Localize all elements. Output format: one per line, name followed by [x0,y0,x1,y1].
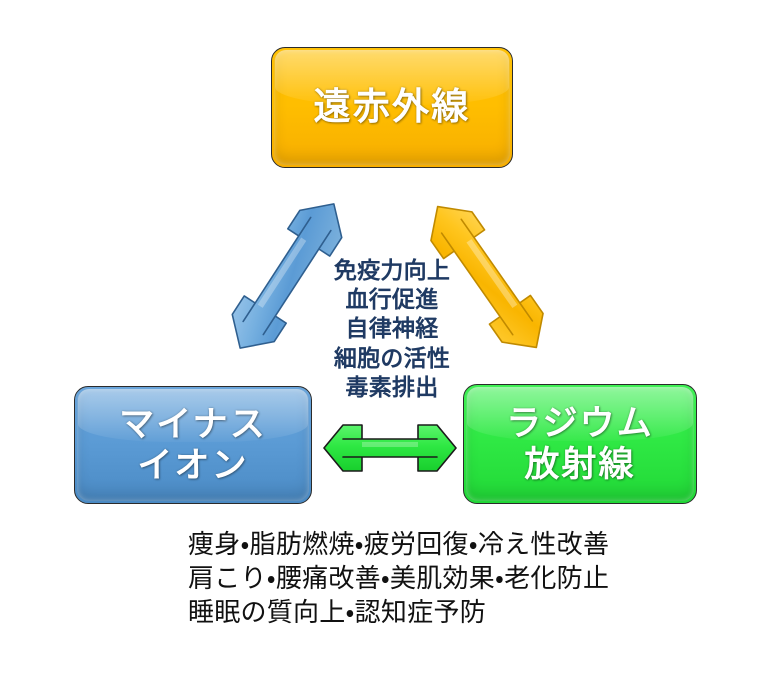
node-minus-ion[interactable]: マイナス イオン [74,386,312,504]
center-benefit-line: 血行促進 [312,285,472,314]
arrow-minus-ion-radium [324,425,456,471]
bottom-benefits-text: 痩身・脂肪燃焼・疲労回復・冷え性改善 肩こり・腰痛改善・美肌効果・老化防止 睡眠… [188,528,668,629]
node-radium-label: ラジウム 放射線 [506,403,654,486]
center-benefit-line: 毒素排出 [312,373,472,402]
node-minus-ion-label: マイナス イオン [119,404,267,487]
center-benefits-text: 免疫力向上 血行促進 自律神経 細胞の活性 毒素排出 [312,256,472,402]
center-benefit-line: 免疫力向上 [312,256,472,285]
bottom-benefit-line: 痩身・脂肪燃焼・疲労回復・冷え性改善 [188,528,668,562]
node-radium[interactable]: ラジウム 放射線 [463,384,697,504]
bottom-benefit-line: 睡眠の質向上・認知症予防 [188,596,668,630]
diagram-canvas: 遠赤外線 マイナス イオン ラジウム 放射線 免疫力向上 血行促進 自律神経 細… [0,0,762,685]
bottom-benefit-line: 肩こり・腰痛改善・美肌効果・老化防止 [188,562,668,596]
center-benefit-line: 細胞の活性 [312,344,472,373]
node-far-infrared[interactable]: 遠赤外線 [271,47,513,168]
center-benefit-line: 自律神経 [312,314,472,343]
node-far-infrared-label: 遠赤外線 [314,86,471,130]
